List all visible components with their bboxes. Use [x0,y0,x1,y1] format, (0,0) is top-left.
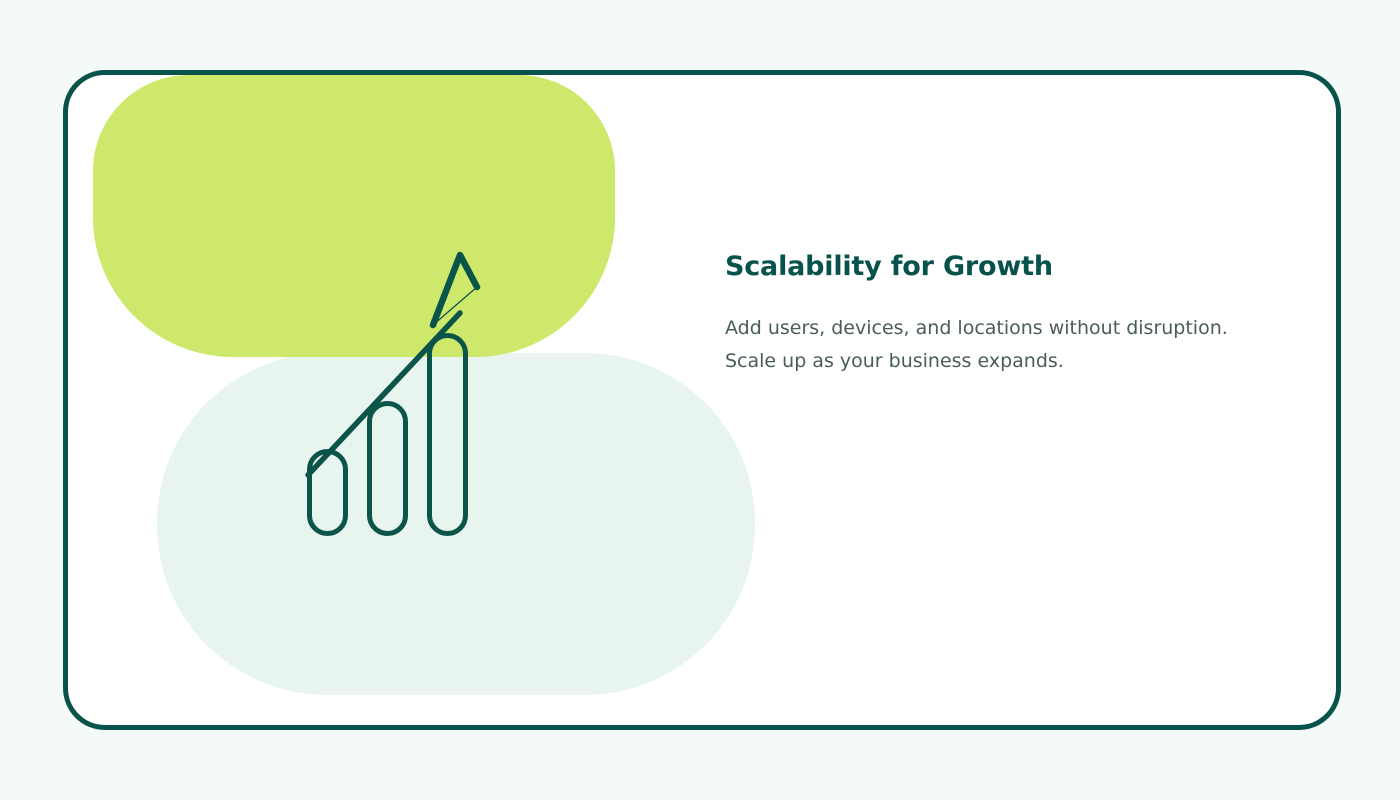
chart-bar-1 [310,452,346,534]
growth-chart-icon [285,235,585,555]
arrowhead-inner-line-icon [433,255,460,325]
card-text-block: Scalability for Growth Add users, device… [725,250,1285,378]
card-description: Add users, devices, and locations withou… [725,312,1255,379]
arrowhead-base-line-icon [433,287,477,325]
chart-bar-3 [430,336,466,534]
feature-card: Scalability for Growth Add users, device… [63,70,1341,730]
arrowhead-icon [433,255,477,325]
page-title: Scalability for Growth [725,250,1285,284]
arrow-shaft-icon [308,313,460,475]
chart-bar-2 [370,404,406,534]
lime-blob-shape [93,75,615,357]
mint-blob-shape [157,353,755,695]
growth-illustration [5,5,1400,800]
